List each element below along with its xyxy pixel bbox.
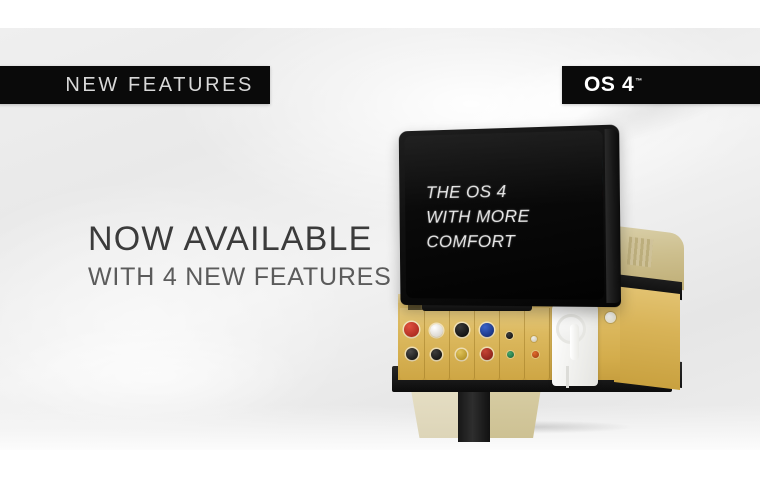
port-red-lower[interactable]: [481, 348, 493, 360]
dispenser-button[interactable]: [605, 312, 616, 323]
dispenser-hose: [566, 366, 569, 388]
new-features-label: NEW FEATURES: [65, 74, 254, 97]
screen-line-3: COMFORT: [426, 229, 530, 254]
port-green-lower[interactable]: [507, 351, 514, 358]
port-yellow-lower[interactable]: [456, 349, 467, 360]
panel-slat[interactable]: [525, 308, 550, 380]
os4-label: OS 4™: [584, 73, 642, 97]
port-grey-small[interactable]: [531, 336, 537, 342]
panel-slat[interactable]: [400, 308, 425, 380]
screen-line-2: WITH MORE: [426, 204, 530, 230]
port-white[interactable]: [430, 324, 443, 337]
port-orange-lower[interactable]: [532, 351, 539, 358]
new-features-banner: NEW FEATURES: [0, 66, 270, 104]
panel-slat[interactable]: [425, 308, 450, 380]
headline-primary: NOW AVAILABLE: [88, 222, 392, 258]
emergency-stop-button[interactable]: [404, 322, 419, 337]
panel-slat[interactable]: [500, 308, 525, 380]
screen-message: THE OS 4 WITH MORE COMFORT: [426, 179, 530, 254]
port-blue[interactable]: [480, 323, 494, 337]
chassis-side: [614, 286, 680, 390]
headline-secondary: WITH 4 NEW FEATURES: [88, 263, 392, 293]
bottom-white-margin: [0, 450, 760, 478]
panel-slat[interactable]: [450, 308, 475, 380]
cowl-vent-grille-icon: [627, 237, 653, 268]
top-white-margin: [0, 0, 760, 28]
dispenser-stem: [570, 324, 579, 360]
port-black-lower-2[interactable]: [431, 349, 442, 360]
panel-slat[interactable]: [475, 308, 500, 380]
monitor-housing: THE OS 4 WITH MORE COMFORT WRIST TEST RE…: [399, 124, 621, 307]
port-black[interactable]: [455, 323, 469, 337]
promo-slide: NEW FEATURES OS 4™ NOW AVAILABLE WITH 4 …: [0, 0, 760, 478]
os4-text: OS 4: [584, 73, 634, 96]
monitor-right-bezel: [605, 129, 621, 304]
screen-line-1: THE OS 4: [426, 179, 530, 205]
os4-machine: OS 4 THE OS 4 WITH MORE COMFORT WRIST TE…: [370, 118, 700, 438]
headline-block: NOW AVAILABLE WITH 4 NEW FEATURES: [88, 222, 392, 292]
os4-banner: OS 4™: [562, 66, 760, 104]
port-dark-small[interactable]: [506, 332, 513, 339]
connector-panel: [400, 308, 550, 380]
trademark-symbol: ™: [635, 78, 642, 85]
port-black-lower[interactable]: [406, 348, 418, 360]
monitor-screen[interactable]: THE OS 4 WITH MORE COMFORT WRIST TEST RE…: [404, 130, 604, 300]
